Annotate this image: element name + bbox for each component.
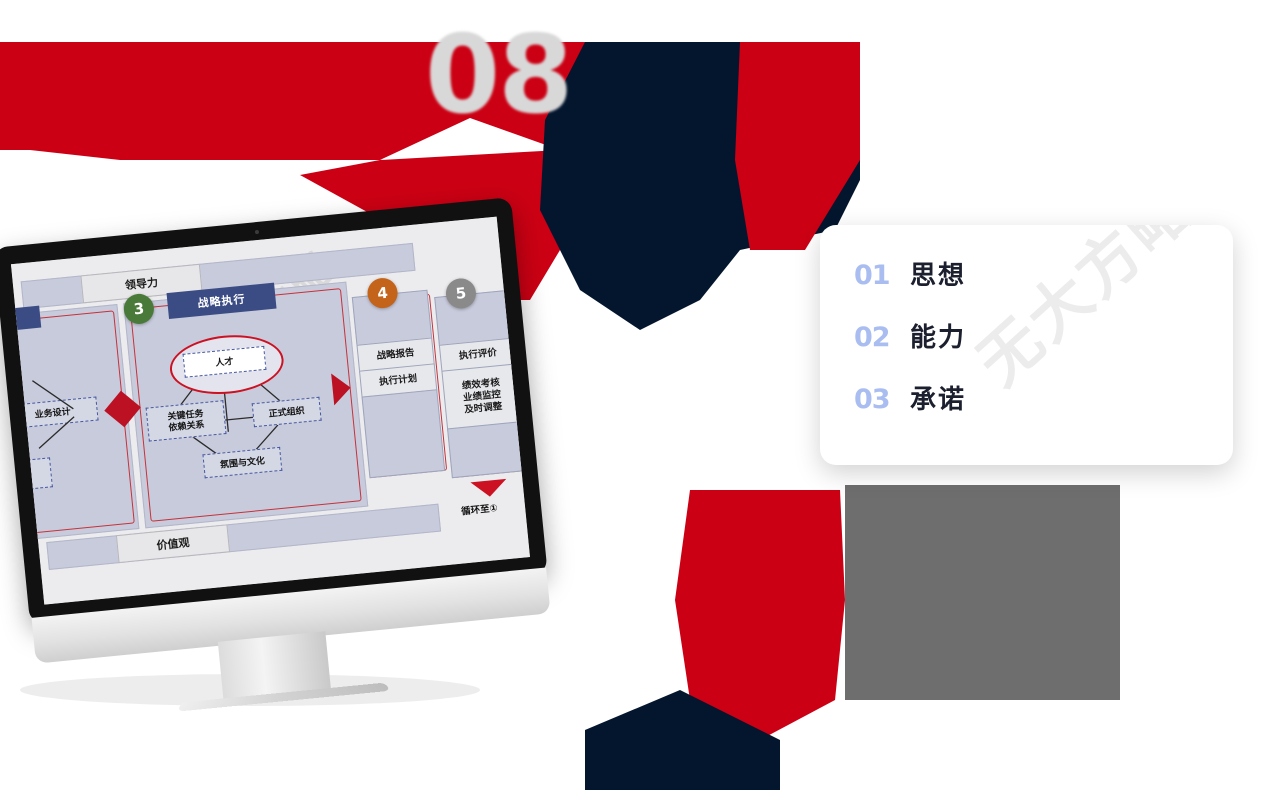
col5-spacer-bottom: [447, 421, 528, 478]
agenda-item-label: 能力: [910, 317, 966, 354]
agenda-item-number: 02: [854, 322, 910, 353]
col4-spacer-bottom: [362, 389, 446, 478]
agenda-item-number: 01: [854, 260, 910, 291]
agenda-list: 01 思想 02 能力 03 承诺: [854, 255, 1213, 441]
values-label: 价值观: [156, 534, 190, 553]
right-arrow: [331, 372, 352, 406]
red-shape-blob: [585, 68, 720, 142]
values-label-box: 价值观: [116, 524, 230, 563]
strategy-execution-label: 战略执行: [197, 291, 246, 312]
section-number: 08: [425, 22, 571, 130]
red-shape-right: [735, 42, 860, 250]
agenda-item-label: 承诺: [910, 379, 966, 416]
monitor-screen: 无大方略 领导力 价值观 业务设计: [11, 217, 530, 605]
slide-canvas: 08 无大方略 领导力 价值观 业务设计: [0, 0, 1280, 790]
list-item[interactable]: 03 承诺: [854, 379, 1213, 441]
loop-label: 循环至①: [460, 500, 498, 517]
navy-shape-main: [540, 42, 860, 330]
slide-content: 无大方略 领导力 价值观 业务设计: [11, 217, 530, 605]
imac-monitor: 无大方略 领导力 价值观 业务设计: [0, 196, 560, 646]
list-item[interactable]: 01 思想: [854, 255, 1213, 317]
navy-shape-bottom: [585, 690, 780, 790]
col5-cell-1: 绩效考核 业绩监控 及时调整: [441, 363, 522, 430]
red-shape-bottom: [675, 490, 845, 740]
step-badge-5-number: 5: [455, 284, 467, 303]
list-item[interactable]: 02 能力: [854, 317, 1213, 379]
loop-arrow-icon: [470, 479, 507, 498]
step-badge-3-number: 3: [133, 299, 145, 318]
agenda-item-label: 思想: [910, 255, 966, 292]
grey-shape-bottom: [845, 485, 1120, 700]
leadership-label: 领导力: [124, 274, 158, 293]
step-badge-4-number: 4: [376, 284, 388, 303]
agenda-card: 无大方略 01 思想 02 能力 03 承诺: [820, 225, 1233, 465]
agenda-item-number: 03: [854, 384, 910, 415]
